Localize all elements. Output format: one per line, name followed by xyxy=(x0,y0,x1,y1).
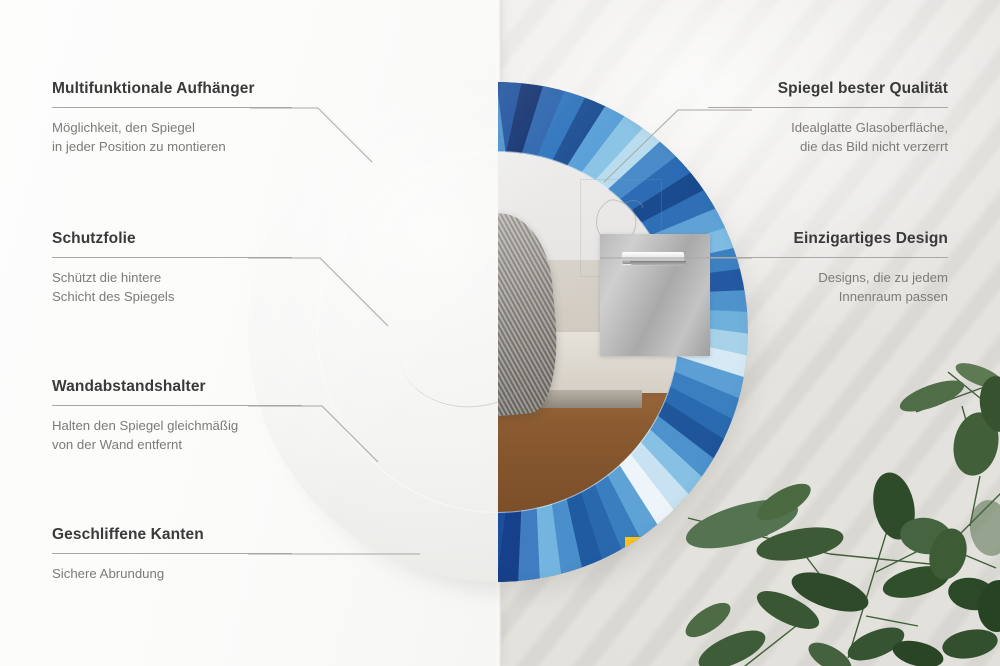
mirror-product xyxy=(248,82,754,588)
callout-multifunktionale-aufhaenger: Multifunktionale Aufhänger Möglichkeit, … xyxy=(52,80,292,156)
callout-rule xyxy=(52,257,292,258)
callout-title: Einzigartiges Design xyxy=(708,230,948,248)
callout-text: Schützt die hintere Schicht des Spiegels xyxy=(52,269,292,306)
callout-schutzfolie: Schutzfolie Schützt die hintere Schicht … xyxy=(52,230,292,306)
callout-title: Wandabstandshalter xyxy=(52,378,302,396)
callout-title: Spiegel bester Qualität xyxy=(708,80,948,98)
callout-text: Halten den Spiegel gleichmäßig von der W… xyxy=(52,417,302,454)
callout-text: Sichere Abrundung xyxy=(52,565,292,584)
callout-rule xyxy=(52,107,292,108)
multifunctional-hanger-plate xyxy=(600,234,710,356)
callout-geschliffene-kanten: Geschliffene Kanten Sichere Abrundung xyxy=(52,526,292,584)
callout-text: Designs, die zu jedem Innenraum passen xyxy=(708,269,948,306)
callout-rule xyxy=(52,553,292,554)
callout-rule xyxy=(708,257,948,258)
wall-spacer-block xyxy=(625,537,651,562)
callout-wandabstandshalter: Wandabstandshalter Halten den Spiegel gl… xyxy=(52,378,302,454)
infographic-canvas: Multifunktionale Aufhänger Möglichkeit, … xyxy=(0,0,1000,666)
mirror-body xyxy=(248,82,748,582)
leaf-shapes xyxy=(680,358,1000,666)
callout-rule xyxy=(708,107,948,108)
callout-rule xyxy=(52,405,302,406)
callout-spiegel-bester-qualitaet: Spiegel bester Qualität Idealglatte Glas… xyxy=(708,80,948,156)
hanger-slot xyxy=(622,252,684,264)
callout-text: Möglichkeit, den Spiegel in jeder Positi… xyxy=(52,119,292,156)
callout-title: Geschliffene Kanten xyxy=(52,526,292,544)
callout-text: Idealglatte Glasoberfläche, die das Bild… xyxy=(708,119,948,156)
callout-title: Multifunktionale Aufhänger xyxy=(52,80,292,98)
callout-title: Schutzfolie xyxy=(52,230,292,248)
callout-einzigartiges-design: Einzigartiges Design Designs, die zu jed… xyxy=(708,230,948,306)
foliage-decoration xyxy=(680,358,1000,666)
